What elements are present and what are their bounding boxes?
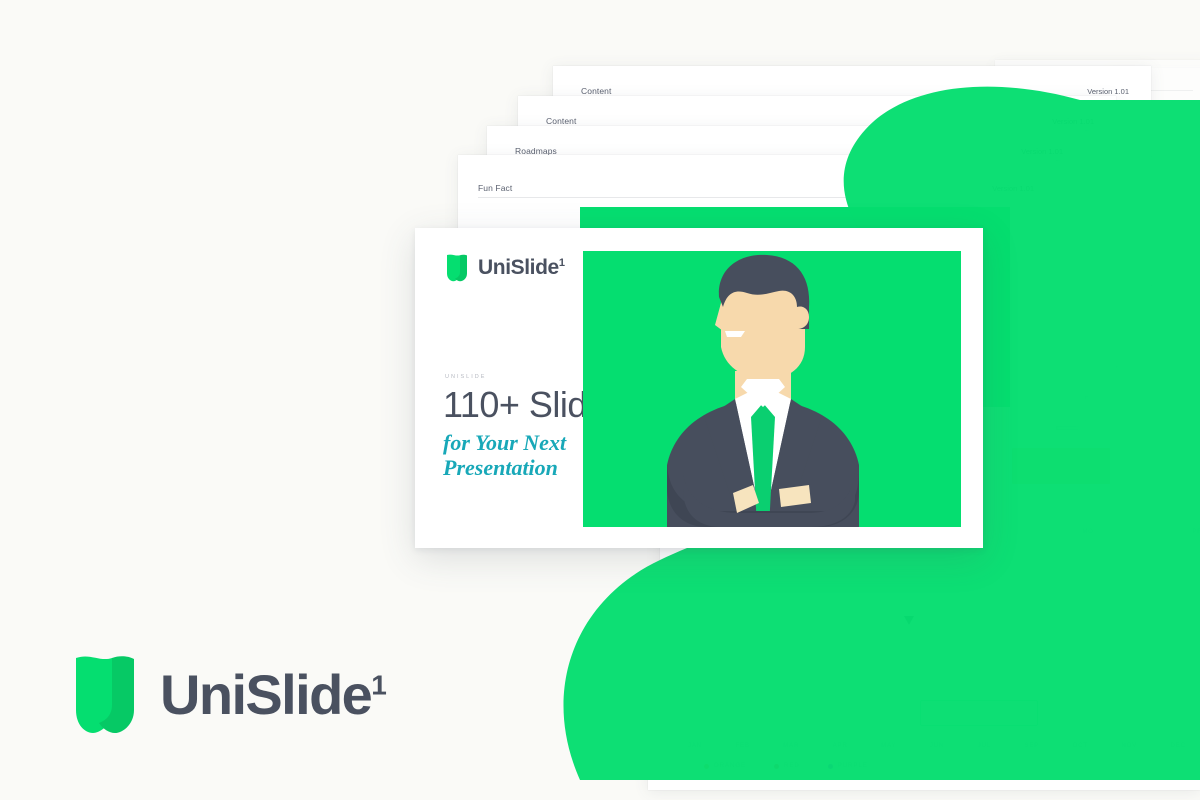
shield-icon: [445, 253, 469, 282]
slide-rule: [478, 197, 1034, 198]
mouse-mock: [1092, 492, 1122, 540]
slide-version-label: Version 1.01: [992, 184, 1034, 193]
hero-subtitle: for Your Next Presentation: [443, 430, 566, 480]
axis-tick: MAR: [783, 743, 799, 749]
color-swatch: [1112, 448, 1198, 484]
axis-tick: JAN: [688, 743, 702, 749]
axis-tick: OCT: [1073, 743, 1088, 749]
legend-item-purple[interactable]: PURPLE: [828, 763, 868, 769]
mock-panel-map-chart[interactable]: JAN FEB MAR APR MAY JUN JUL SEP OCT NOV …: [648, 600, 1200, 790]
hero-photo: [583, 251, 961, 527]
mock-card[interactable]: PRO MOCK: [1152, 522, 1200, 558]
legend-label: RED: [784, 763, 800, 769]
axis-tick: NOV: [1121, 743, 1137, 749]
color-swatch: [1012, 448, 1110, 484]
legend-label: ORANGE: [714, 763, 746, 769]
businessman-illustration: [583, 251, 961, 527]
map-option-card[interactable]: [1048, 700, 1166, 726]
hero-kicker: UNISLIDE: [445, 374, 486, 380]
mock-card-label: PRO MOCK: [1153, 529, 1200, 535]
axis-tick: APR: [833, 743, 848, 749]
slide-title: Content: [581, 86, 611, 96]
legend-dot-icon: [774, 764, 779, 769]
legend-item-orange[interactable]: ORANGE: [704, 763, 746, 769]
axis-tick: DEC: [1171, 743, 1186, 749]
hero-subtitle-line1: for Your Next: [443, 430, 566, 455]
legend-label: PURPLE: [838, 763, 868, 769]
map-option-card[interactable]: [664, 700, 782, 726]
axis-tick: MAY: [881, 743, 896, 749]
slide-title: Fun Fact: [478, 183, 512, 193]
legend-item-red[interactable]: RED: [774, 763, 800, 769]
hero-logo: UniSlide1: [445, 253, 565, 282]
hero-logo-text: UniSlide1: [478, 256, 565, 280]
map-pin-icon: [904, 616, 914, 625]
hero-subtitle-line2: Presentation: [443, 455, 558, 480]
brand-logo: UniSlide1: [72, 652, 385, 736]
map-mock[interactable]: [664, 606, 1184, 692]
hero-slide[interactable]: UniSlide1 UNISLIDE 110+ Slides for Your …: [415, 228, 983, 548]
chart-legend: ORANGE RED PURPLE: [704, 763, 868, 769]
brand-logo-superscript: 1: [371, 669, 385, 700]
slide-version-label: Version 1.01: [1087, 87, 1129, 96]
shield-icon: [72, 652, 138, 736]
map-option-card[interactable]: [792, 700, 910, 726]
chart-x-axis: JAN FEB MAR APR MAY JUN JUL SEP OCT NOV …: [688, 743, 1186, 749]
legend-dot-icon: [704, 764, 709, 769]
axis-tick: SEP: [1024, 743, 1039, 749]
brand-logo-text: UniSlide1: [160, 662, 385, 727]
slide-title: Content: [546, 116, 576, 126]
legend-dot-icon: [828, 764, 833, 769]
hero-logo-superscript: 1: [559, 257, 565, 269]
poster-canvas: 1.01 1.01 Content Version 1.01 Content V…: [0, 0, 1200, 800]
axis-tick: JUL: [978, 743, 991, 749]
map-option-card-selected[interactable]: [920, 700, 1038, 726]
axis-tick: FEB: [735, 743, 749, 749]
axis-tick: JUN: [930, 743, 944, 749]
slide-version-label: Version 1.01: [1052, 117, 1094, 126]
